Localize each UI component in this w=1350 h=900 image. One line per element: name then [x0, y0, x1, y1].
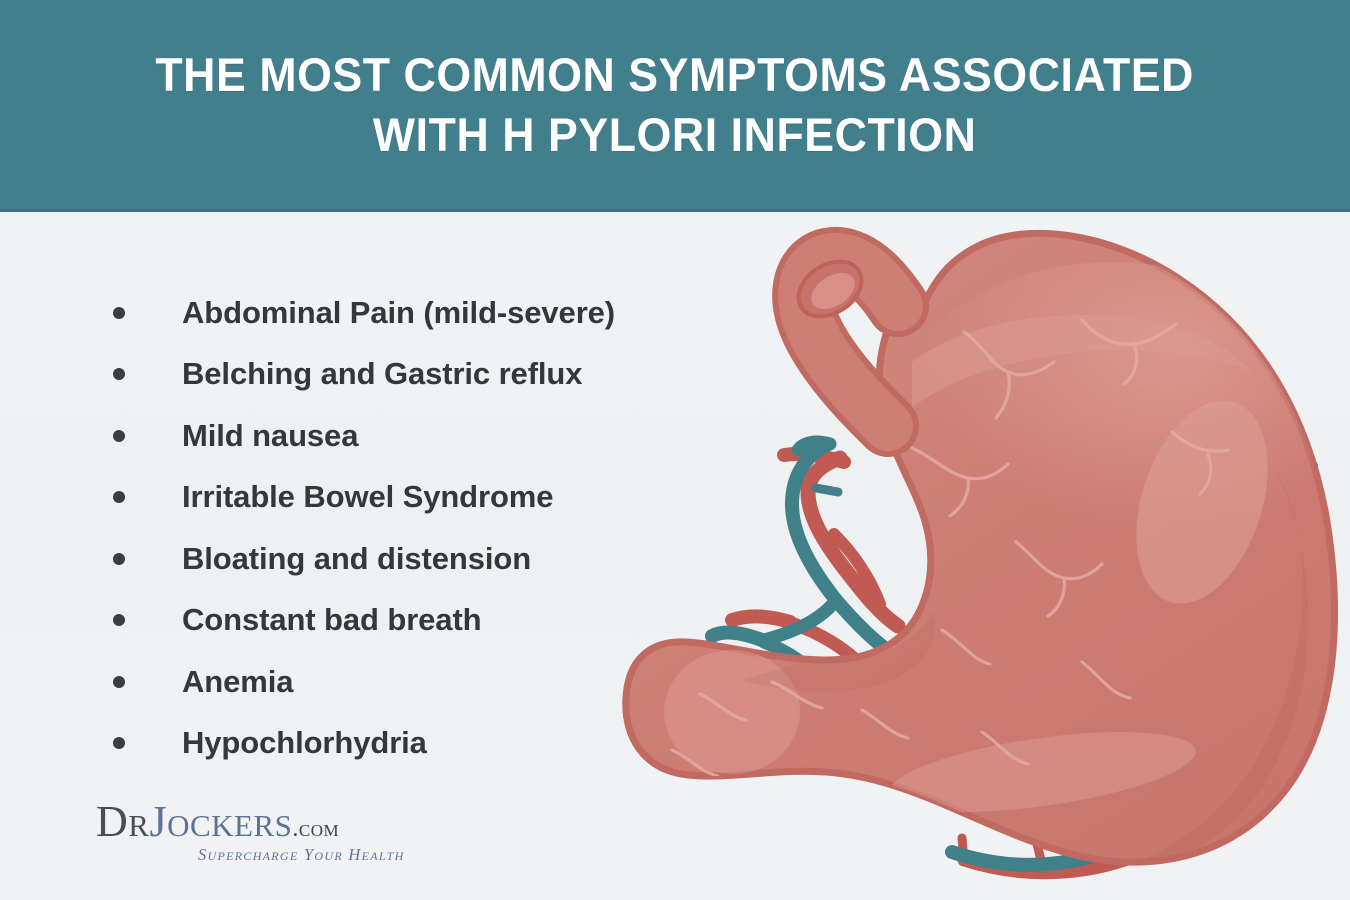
stomach-anatomy-svg: [612, 212, 1350, 900]
symptom-label: Anemia: [182, 664, 293, 700]
logo-wordmark: DrJockers.com: [96, 800, 426, 844]
logo-dr-text: Dr: [96, 797, 149, 846]
bullet-icon: [113, 368, 125, 380]
symptom-label: Belching and Gastric reflux: [182, 356, 582, 392]
logo-tagline: Supercharge Your Health: [198, 845, 405, 865]
bullet-icon: [113, 491, 125, 503]
stomach-illustration: [612, 212, 1350, 900]
header-band: THE MOST COMMON SYMPTOMS ASSOCIATED WITH…: [0, 0, 1350, 212]
symptom-label: Abdominal Pain (mild-severe): [182, 295, 615, 331]
bullet-icon: [113, 430, 125, 442]
page-title-line-2: WITH H PYLORI INFECTION: [156, 105, 1195, 164]
symptom-label: Constant bad breath: [182, 602, 482, 638]
bullet-icon: [113, 737, 125, 749]
logo-jockers-text: Jockers: [149, 797, 292, 846]
infographic-canvas: THE MOST COMMON SYMPTOMS ASSOCIATED WITH…: [0, 0, 1350, 900]
bullet-icon: [113, 614, 125, 626]
stomach-organ: [626, 233, 1335, 874]
symptom-label: Irritable Bowel Syndrome: [182, 479, 553, 515]
bullet-icon: [113, 553, 125, 565]
symptom-label: Mild nausea: [182, 418, 358, 454]
page-title-line-1: THE MOST COMMON SYMPTOMS ASSOCIATED: [156, 48, 1195, 101]
logo-com-text: .com: [292, 816, 339, 842]
page-title: THE MOST COMMON SYMPTOMS ASSOCIATED WITH…: [156, 45, 1195, 163]
bullet-icon: [113, 307, 125, 319]
bullet-icon: [113, 676, 125, 688]
symptom-label: Hypochlorhydria: [182, 725, 427, 761]
symptom-label: Bloating and distension: [182, 541, 531, 577]
brand-logo[interactable]: DrJockers.com Supercharge Your Health: [96, 800, 426, 872]
